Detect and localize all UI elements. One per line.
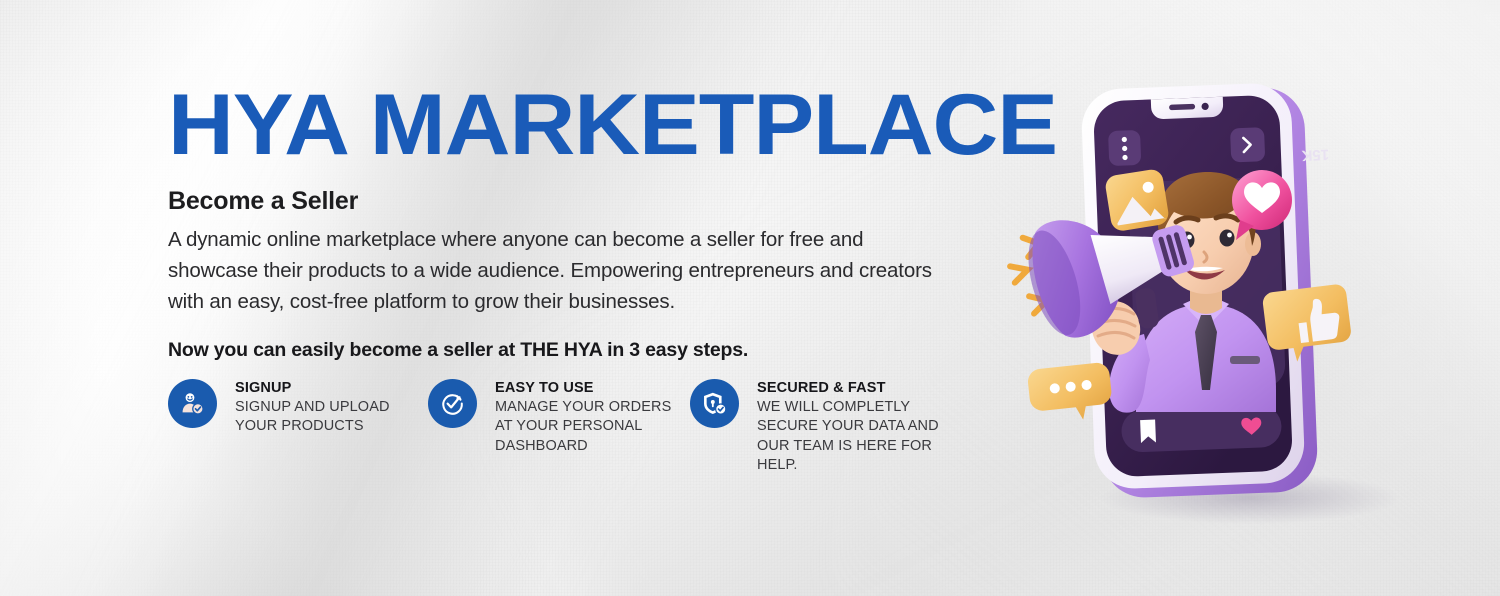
phone-notch [1151, 97, 1224, 120]
feature-text-easy-to-use: EASY TO USE MANAGE YOUR ORDERS AT YOUR P… [495, 379, 690, 456]
page-title: HYA MARKETPLACE [168, 86, 1016, 165]
chevron-right-icon[interactable] [1230, 127, 1265, 162]
feature-title: SIGNUP [235, 380, 428, 396]
feature-text-signup: SIGNUP SIGNUP AND UPLOAD YOUR PRODUCTS [235, 379, 428, 437]
feature-description: WE WILL COMPLETLY SECURE YOUR DATA AND O… [757, 398, 940, 475]
hero-description: A dynamic online marketplace where anyon… [168, 224, 938, 317]
hero-steps-callout: Now you can easily become a seller at TH… [168, 339, 968, 362]
user-check-icon [168, 379, 217, 428]
shield-check-icon [690, 379, 739, 428]
feature-text-secured-fast: SECURED & FAST WE WILL COMPLETLY SECURE … [757, 379, 940, 475]
feature-item-secured-fast: SECURED & FAST WE WILL COMPLETLY SECURE … [690, 379, 940, 475]
image-icon [1104, 168, 1170, 232]
feature-list: SIGNUP SIGNUP AND UPLOAD YOUR PRODUCTS E… [168, 379, 940, 475]
feature-item-signup: SIGNUP SIGNUP AND UPLOAD YOUR PRODUCTS [168, 379, 428, 475]
hero-copy-block: HYA MARKETPLACE Become a Seller A dynami… [168, 86, 968, 362]
feature-item-easy-to-use: EASY TO USE MANAGE YOUR ORDERS AT YOUR P… [428, 379, 690, 475]
hero-subheading: Become a Seller [168, 187, 968, 216]
feature-description: SIGNUP AND UPLOAD YOUR PRODUCTS [235, 398, 428, 437]
marketplace-hero-banner: HYA MARKETPLACE Become a Seller A dynami… [0, 0, 1500, 596]
feature-description: MANAGE YOUR ORDERS AT YOUR PERSONAL DASH… [495, 398, 690, 456]
like-count: 15K [1301, 146, 1329, 164]
character-pocket [1230, 356, 1260, 364]
feature-title: SECURED & FAST [757, 380, 940, 396]
hero-illustration: 15K [1040, 60, 1500, 530]
feature-title: EASY TO USE [495, 380, 690, 396]
check-circle-refresh-icon [428, 379, 477, 428]
three-dots-icon[interactable] [1108, 130, 1141, 166]
character-eye-right [1220, 230, 1235, 247]
